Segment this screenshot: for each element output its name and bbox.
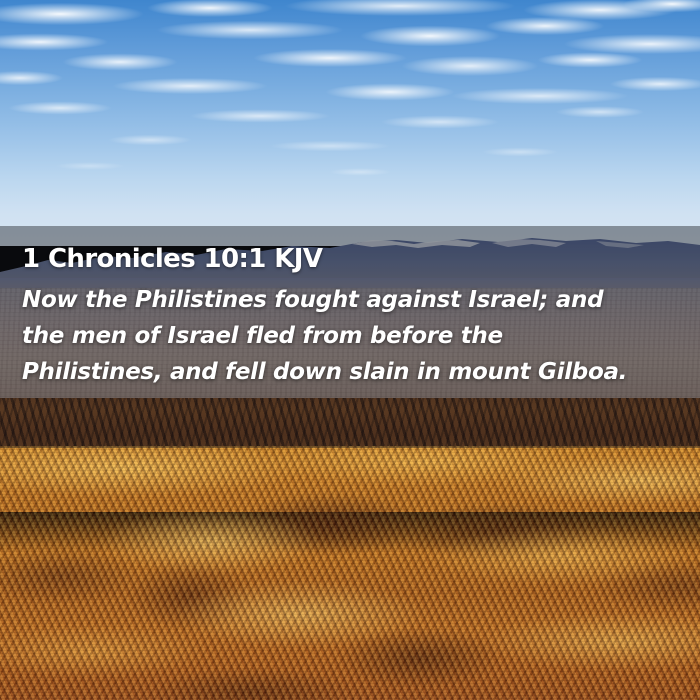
verse-text-line-3: Philistines, and fell down slain in moun…	[22, 354, 678, 390]
verse-reference: 1 Chronicles 10:1 KJV	[22, 244, 678, 274]
verse-text-line-2: the men of Israel fled from before the	[22, 318, 678, 354]
badlands-grain	[0, 446, 700, 700]
verse-text-line-1: Now the Philistines fought against Israe…	[22, 282, 678, 318]
clouds-layer	[0, 0, 700, 246]
verse-overlay: 1 Chronicles 10:1 KJV Now the Philistine…	[0, 226, 700, 448]
verse-text: Now the Philistines fought against Israe…	[22, 282, 678, 390]
bible-verse-image: 1 Chronicles 10:1 KJV Now the Philistine…	[0, 0, 700, 700]
